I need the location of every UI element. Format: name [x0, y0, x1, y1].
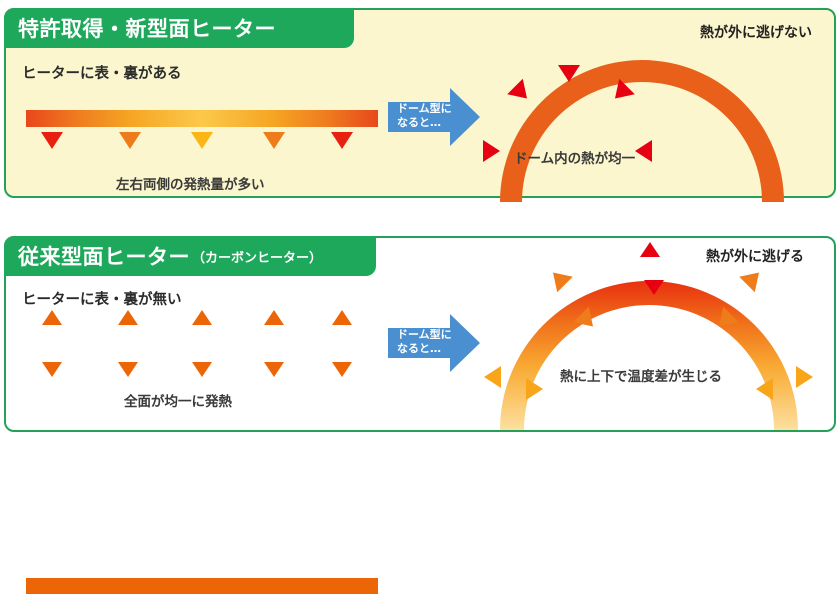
- emission-triangle-up: [192, 310, 212, 325]
- dome-new-outer-label: 熱が外に逃げない: [700, 22, 812, 42]
- dome-triangle-inward: [756, 378, 773, 400]
- emission-triangle-down: [331, 132, 353, 149]
- dome-triangle-inward: [644, 280, 664, 295]
- panel-new-heater: 特許取得・新型面ヒーター ヒーターに表・裏がある 左右両側の発熱量が多い ドーム…: [4, 8, 836, 198]
- dome-triangle-outward: [640, 242, 660, 257]
- emission-triangle-down: [42, 362, 62, 377]
- heater-bar-old: [26, 578, 378, 594]
- emission-triangle-down: [264, 362, 284, 377]
- panel-old-bar-caption: 全面が均一に発熱: [124, 390, 232, 410]
- heater-bar-new: [26, 110, 378, 127]
- panel-old-header-title: 従来型面ヒーター: [18, 241, 190, 271]
- transition-arrow-new: ドーム型に なると…: [388, 88, 480, 146]
- panel-new-subtitle: ヒーターに表・裏がある: [22, 62, 182, 83]
- dome-triangle-inward: [483, 140, 500, 162]
- transition-arrow-line1: ドーム型に: [397, 328, 452, 342]
- transition-arrow-old: ドーム型に なると…: [388, 314, 480, 372]
- panel-new-header: 特許取得・新型面ヒーター: [4, 8, 354, 48]
- transition-arrow-line2: なると…: [397, 116, 452, 130]
- emission-triangle-down: [191, 132, 213, 149]
- panel-new-bar-caption: 左右両側の発熱量が多い: [116, 173, 265, 193]
- emission-triangle-down: [263, 132, 285, 149]
- dome-new: [482, 26, 802, 202]
- dome-triangle-inward: [558, 65, 580, 82]
- emission-triangle-down: [118, 362, 138, 377]
- emission-triangle-up: [264, 310, 284, 325]
- panel-old-subtitle: ヒーターに表・裏が無い: [22, 288, 182, 309]
- panel-new-header-title: 特許取得・新型面ヒーター: [18, 13, 276, 43]
- emission-triangle-down: [332, 362, 352, 377]
- emission-triangle-down: [119, 132, 141, 149]
- dome-triangle-inward: [526, 378, 543, 400]
- emission-triangle-up: [332, 310, 352, 325]
- dome-new-inner-label: ドーム内の熱が均一: [514, 147, 635, 167]
- transition-arrow-line2: なると…: [397, 342, 452, 356]
- dome-triangle-outward: [484, 366, 501, 388]
- emission-triangle-up: [42, 310, 62, 325]
- dome-old-outer-label: 熱が外に逃げる: [706, 246, 804, 266]
- panel-old-header-subtitle: （カーボンヒーター）: [192, 247, 322, 266]
- dome-triangle-inward: [635, 140, 652, 162]
- dome-old-inner-label: 熱に上下で温度差が生じる: [560, 365, 722, 385]
- panel-old-header: 従来型面ヒーター （カーボンヒーター）: [4, 236, 376, 276]
- emission-triangle-down: [41, 132, 63, 149]
- emission-triangle-down: [192, 362, 212, 377]
- transition-arrow-line1: ドーム型に: [397, 102, 452, 116]
- emission-triangle-up: [118, 310, 138, 325]
- panel-old-heater: 従来型面ヒーター （カーボンヒーター） ヒーターに表・裏が無い 全面が均一に発熱…: [4, 236, 836, 432]
- dome-triangle-outward: [796, 366, 813, 388]
